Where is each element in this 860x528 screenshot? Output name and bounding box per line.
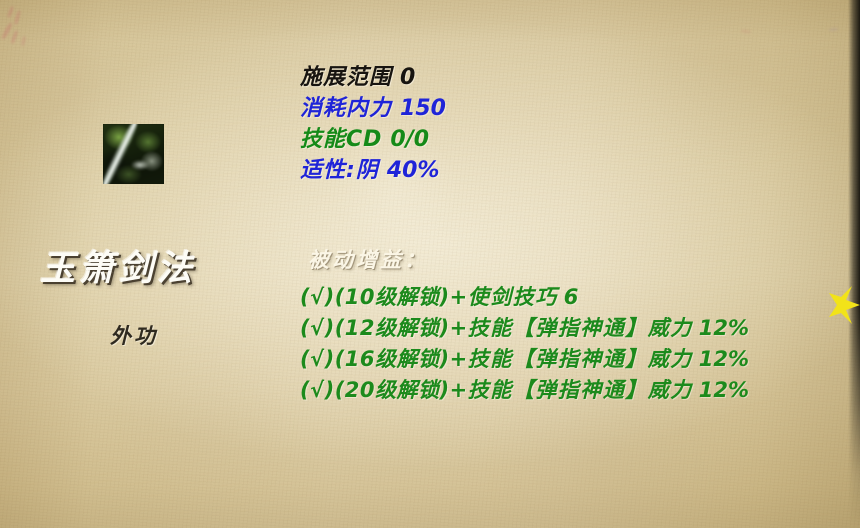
passive-bonus-row: (√)(12级解锁)+技能【弹指神通】威力12% (300, 313, 845, 344)
passive-check-icon: (√) (300, 347, 335, 371)
skill-name: 玉箫剑法 (40, 240, 280, 291)
passive-effect-label: 技能【弹指神通】威力 (468, 347, 693, 371)
passive-plus-sign: + (450, 316, 468, 340)
stat-label-cooldown: 技能CD (300, 127, 382, 152)
skill-detail-screen: 玉箫剑法 外功 施展范围0 消耗内力150 技能CD0/0 适性:阴40% 被动… (0, 0, 860, 528)
paper-scuff-mark (14, 10, 21, 25)
stat-label-inner-power-cost: 消耗内力 (300, 96, 392, 121)
stat-value-affinity: 40% (387, 158, 440, 183)
skill-category: 外功 (110, 320, 158, 350)
passive-bonus-heading: 被动增益： (300, 244, 845, 274)
passive-unlock-level: (10级解锁) (335, 285, 450, 309)
stat-row-range: 施展范围0 (300, 62, 820, 93)
passive-unlock-level: (12级解锁) (335, 316, 450, 340)
stat-label-affinity: 适性:阴 (300, 158, 379, 183)
paper-scuff-mark (21, 36, 26, 46)
skill-icon-glint (131, 160, 149, 170)
passive-bonus-row: (√)(20级解锁)+技能【弹指神通】威力12% (300, 375, 845, 406)
passive-effect-amount: 12% (699, 378, 749, 402)
stat-row-affinity: 适性:阴40% (300, 155, 820, 186)
passive-bonus-row: (√)(16级解锁)+技能【弹指神通】威力12% (300, 344, 845, 375)
passive-bonus-section: 被动增益： (√)(10级解锁)+使剑技巧6 (√)(12级解锁)+技能【弹指神… (300, 244, 845, 406)
passive-effect-amount: 6 (564, 285, 579, 309)
paper-scuff-mark (829, 28, 838, 32)
skill-icon[interactable] (103, 124, 164, 184)
paper-scuff-mark (11, 30, 19, 44)
stat-label-range: 施展范围 (300, 65, 392, 90)
passive-check-icon: (√) (300, 285, 335, 309)
paper-scuff-mark (1, 22, 13, 40)
passive-plus-sign: + (450, 285, 468, 309)
passive-plus-sign: + (450, 378, 468, 402)
passive-check-icon: (√) (300, 378, 335, 402)
passive-effect-label: 使剑技巧 (468, 285, 558, 309)
passive-unlock-level: (16级解锁) (335, 347, 450, 371)
passive-unlock-level: (20级解锁) (335, 378, 450, 402)
right-edge-shadow-band (848, 0, 860, 528)
stat-value-cooldown: 0/0 (390, 127, 429, 152)
passive-check-icon: (√) (300, 316, 335, 340)
paper-scuff-mark (741, 29, 751, 33)
passive-effect-amount: 12% (699, 347, 749, 371)
stat-row-inner-power-cost: 消耗内力150 (300, 93, 820, 124)
stat-value-inner-power-cost: 150 (400, 96, 446, 121)
passive-effect-label: 技能【弹指神通】威力 (468, 378, 693, 402)
skill-stats-list: 施展范围0 消耗内力150 技能CD0/0 适性:阴40% (300, 62, 820, 186)
stat-value-range: 0 (400, 65, 415, 90)
stat-row-cooldown: 技能CD0/0 (300, 124, 820, 155)
passive-bonus-row: (√)(10级解锁)+使剑技巧6 (300, 282, 845, 313)
passive-effect-amount: 12% (699, 316, 749, 340)
passive-plus-sign: + (450, 347, 468, 371)
paper-scuff-mark (7, 6, 14, 18)
passive-effect-label: 技能【弹指神通】威力 (468, 316, 693, 340)
